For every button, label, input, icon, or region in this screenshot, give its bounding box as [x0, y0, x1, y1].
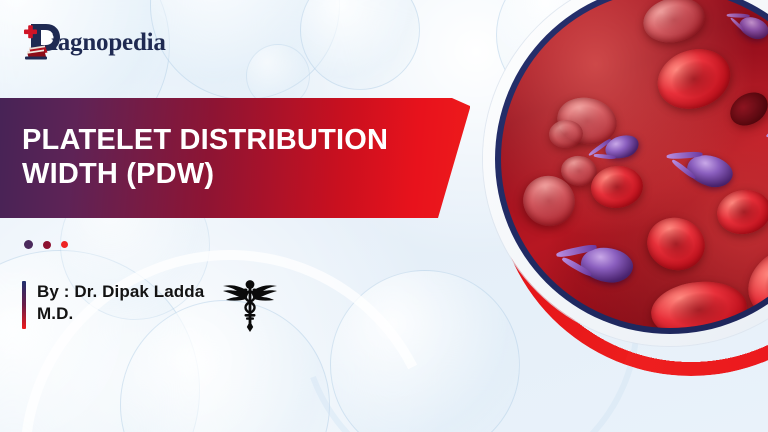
hero-illustration [455, 0, 768, 432]
red-blood-cell [548, 119, 584, 149]
platelet [736, 13, 768, 43]
hero-outer-ring [483, 0, 768, 346]
hero-accent-ring [495, 0, 768, 376]
background-bubble [496, 0, 646, 110]
red-blood-cell [639, 0, 709, 48]
red-blood-cell [650, 40, 738, 118]
platelet [683, 150, 736, 193]
red-blood-cell [553, 92, 621, 149]
background-bubble [300, 0, 420, 90]
decorative-dots [24, 240, 68, 249]
title-banner: Platelet Distribution Width (PDW) [0, 98, 470, 218]
dot-1 [24, 240, 33, 249]
background-bubble [0, 250, 200, 432]
page-title: Platelet Distribution Width (PDW) [0, 124, 388, 192]
hero-navy-ring [495, 0, 768, 334]
platelet [603, 132, 641, 162]
author-accent-rule [22, 281, 26, 329]
red-blood-cell [559, 154, 599, 189]
background-bubble [150, 0, 340, 100]
background-bubble [330, 270, 520, 432]
title-card-canvas: iagnopedia Platelet Distribution Width (… [0, 0, 768, 432]
brand-logo[interactable]: iagnopedia [22, 20, 166, 62]
red-blood-cell [641, 211, 711, 277]
red-blood-cell [714, 186, 768, 239]
author-block: By : Dr. Dipak Ladda M.D. [22, 281, 212, 329]
red-blood-cell [737, 233, 768, 328]
red-blood-cell [724, 86, 768, 133]
brand-logo-wordmark: iagnopedia [51, 30, 166, 55]
background-swoosh [0, 34, 326, 432]
dot-3 [61, 241, 68, 248]
caduceus-icon [222, 274, 278, 332]
dot-2 [43, 241, 51, 249]
platelet [578, 244, 635, 287]
red-blood-cell [589, 163, 645, 210]
author-byline: By : Dr. Dipak Ladda M.D. [37, 281, 212, 325]
hero-photo-blood-cells [501, 0, 768, 328]
red-blood-cell [516, 168, 583, 234]
red-blood-cell [648, 277, 749, 328]
